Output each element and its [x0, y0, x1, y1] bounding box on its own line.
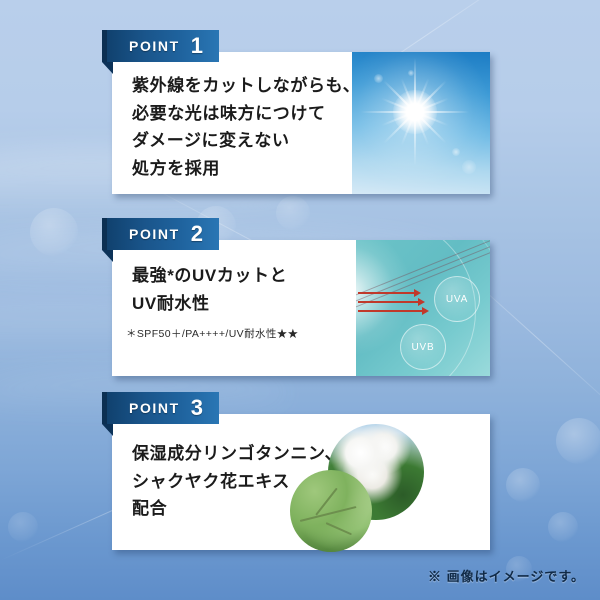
uvb-label: UVB	[400, 324, 446, 370]
banner-left-edge	[102, 30, 107, 62]
lens-flare	[452, 148, 460, 156]
point-card-3: POINT 3 保湿成分リンゴタンニン、 シャクヤク花エキス 配合	[112, 414, 490, 550]
apple-bud-photo	[290, 470, 372, 552]
banner-number: 3	[191, 397, 203, 419]
uv-arrow-head-icon	[418, 298, 425, 306]
uv-arrow-head-icon	[422, 307, 429, 315]
sun-icon	[393, 90, 437, 134]
image-disclaimer: ※ 画像はイメージです。	[428, 566, 585, 585]
background-bokeh	[506, 468, 540, 502]
banner-number: 2	[191, 223, 203, 245]
background-bokeh	[548, 512, 578, 542]
background-bokeh	[276, 196, 310, 230]
banner-label: POINT	[129, 401, 180, 415]
background-bokeh	[8, 512, 38, 542]
point-card-2-note: ＊SPF50＋/PA++++/UV耐水性★★	[126, 326, 299, 341]
uva-label: UVA	[434, 276, 480, 322]
point-card-2-text: 最強*のUVカットと UV耐水性	[132, 262, 287, 317]
lens-flare	[374, 74, 383, 83]
uv-arrow-line	[358, 310, 424, 312]
banner-fold-icon	[102, 62, 113, 74]
banner-fold-icon	[102, 424, 113, 436]
point-card-2-body: 最強*のUVカットと UV耐水性 ＊SPF50＋/PA++++/UV耐水性★★	[112, 240, 356, 376]
banner-left-edge	[102, 218, 107, 250]
lens-flare	[408, 70, 414, 76]
banner-label: POINT	[129, 227, 180, 241]
stem-shape	[300, 506, 357, 522]
uv-arrow-line	[358, 301, 420, 303]
point-card-1-body: 紫外線をカットしながらも、 必要な光は味方につけて ダメージに変えない 処方を採…	[112, 52, 352, 194]
point-card-1: POINT 1 紫外線をカットしながらも、 必要な光は味方につけて ダメージに変…	[112, 52, 490, 194]
point-card-2-media: UVA UVB	[356, 240, 490, 376]
lens-flare	[462, 160, 476, 174]
point-card-1-text: 紫外線をカットしながらも、 必要な光は味方につけて ダメージに変えない 処方を採…	[132, 72, 360, 182]
background-bokeh	[556, 418, 600, 464]
point-card-1-media	[352, 52, 490, 194]
point-banner-2: POINT 2	[107, 218, 219, 250]
banner-fold-icon	[102, 250, 113, 262]
uv-arrow-line	[358, 292, 416, 294]
uv-arrow-head-icon	[414, 289, 421, 297]
point-card-2: POINT 2 最強*のUVカットと UV耐水性 ＊SPF50＋/PA++++/…	[112, 240, 490, 376]
point-card-3-body: 保湿成分リンゴタンニン、 シャクヤク花エキス 配合	[112, 414, 490, 550]
point-banner-1: POINT 1	[107, 30, 219, 62]
point-banner-3: POINT 3	[107, 392, 219, 424]
banner-label: POINT	[129, 39, 180, 53]
background-bokeh	[30, 208, 78, 256]
stem-shape	[326, 522, 352, 535]
banner-number: 1	[191, 35, 203, 57]
banner-left-edge	[102, 392, 107, 424]
